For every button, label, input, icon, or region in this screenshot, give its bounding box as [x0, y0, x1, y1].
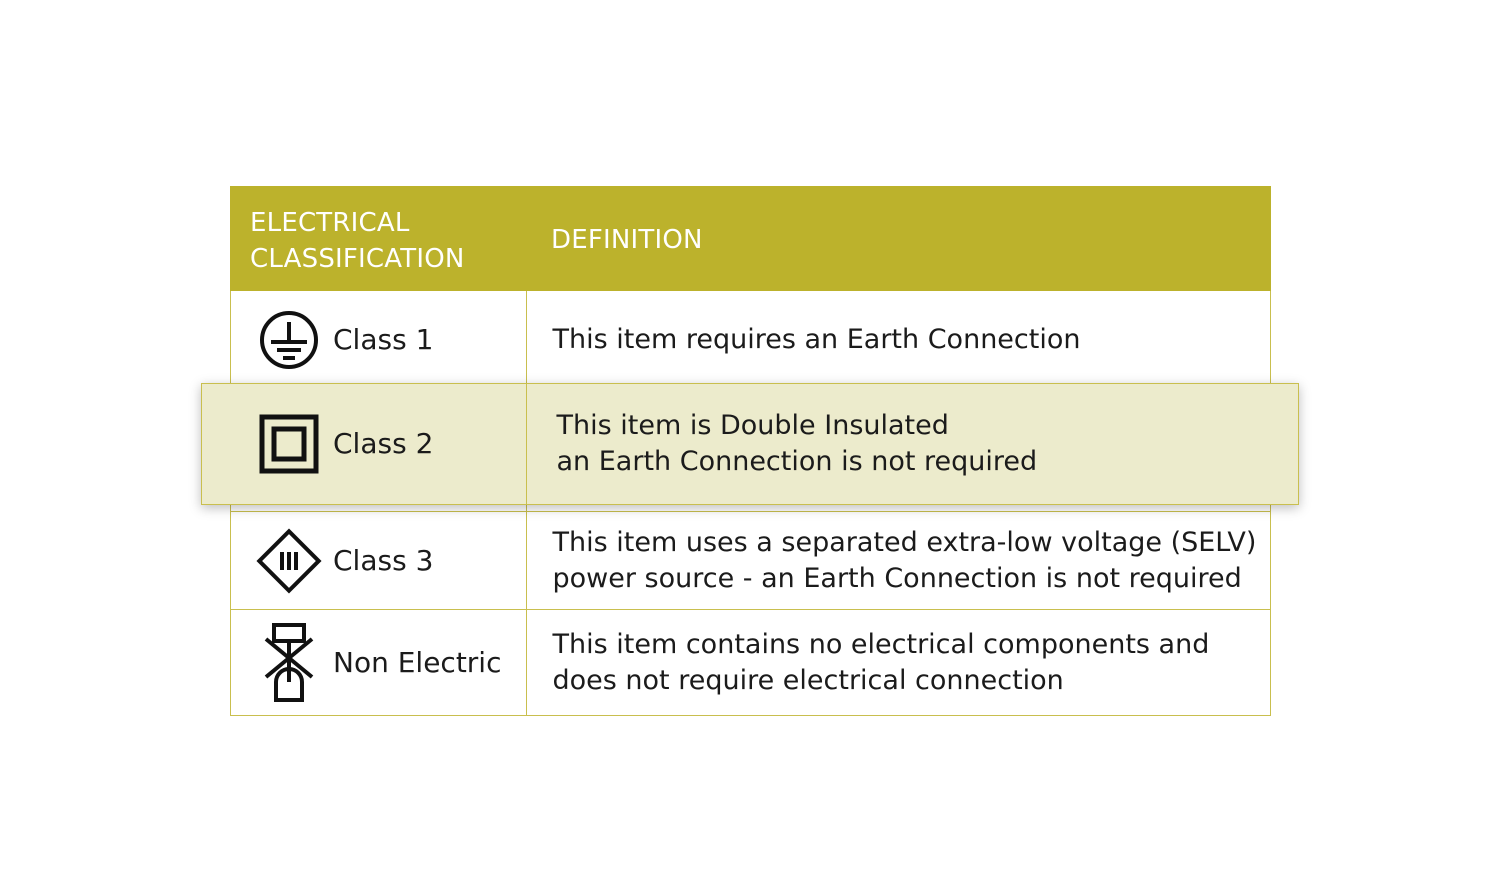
table-row: Non Electric This item contains no elect… — [231, 609, 1270, 715]
cell-definition: This item contains no electrical compone… — [527, 610, 1271, 715]
classification-label: Class 3 — [325, 544, 433, 578]
cell-classification: Class 3 — [231, 512, 527, 609]
definition-line: power source - an Earth Connection is no… — [553, 561, 1271, 597]
table-row: Class 3 This item uses a separated extra… — [231, 511, 1270, 609]
definition-line: This item is Double Insulated — [557, 408, 1299, 444]
column-header-definition: DEFINITION — [527, 186, 1271, 291]
classification-label: Class 1 — [325, 323, 433, 357]
table-row: Class 1 This item requires an Earth Conn… — [231, 291, 1270, 388]
highlighted-row-class-2: Class 2 This item is Double Insulated an… — [201, 383, 1299, 505]
cell-classification: Class 2 — [202, 384, 527, 504]
selv-diamond-icon — [253, 528, 325, 594]
cell-classification: Non Electric — [231, 610, 527, 715]
double-insulated-icon — [253, 414, 325, 474]
table-header-row: ELECTRICAL CLASSIFICATION DEFINITION — [230, 186, 1271, 291]
cell-definition: This item is Double Insulated an Earth C… — [527, 384, 1299, 504]
non-electric-icon — [253, 620, 325, 706]
definition-line: This item uses a separated extra-low vol… — [553, 525, 1271, 561]
earth-connection-icon — [253, 309, 325, 371]
cell-definition: This item requires an Earth Connection — [527, 291, 1271, 388]
classification-label: Class 2 — [325, 427, 433, 461]
definition-line: This item requires an Earth Connection — [553, 322, 1271, 358]
cell-classification: Class 1 — [231, 291, 527, 388]
definition-line: an Earth Connection is not required — [557, 444, 1299, 480]
definition-line: does not require electrical connection — [553, 663, 1271, 699]
cell-definition: This item uses a separated extra-low vol… — [527, 512, 1271, 609]
column-header-electrical-classification: ELECTRICAL CLASSIFICATION — [230, 186, 527, 291]
definition-line: This item contains no electrical compone… — [553, 627, 1271, 663]
classification-label: Non Electric — [325, 646, 501, 680]
